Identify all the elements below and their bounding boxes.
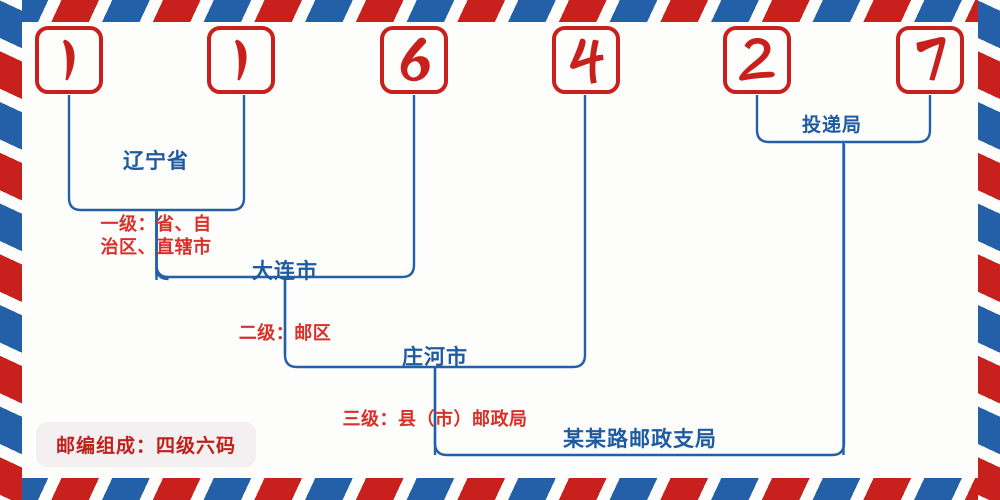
digit-box-5[interactable] xyxy=(723,26,791,94)
airmail-border-left xyxy=(0,0,22,500)
brush-one-icon xyxy=(39,30,99,90)
level-4-title: 某某路邮政支局 xyxy=(500,427,780,451)
postcode-diagram-stage: 辽宁省 一级：省、自 治区、直辖市 大连市 二级：邮区 庄河市 三级：县（市）邮… xyxy=(0,0,1000,500)
digit-box-2[interactable] xyxy=(207,26,275,94)
level-1-title: 辽宁省 xyxy=(56,149,256,173)
brush-one-icon xyxy=(211,30,271,90)
brush-six-icon xyxy=(384,30,444,90)
brush-seven-icon xyxy=(900,30,960,90)
legend-badge: 邮编组成：四级六码 xyxy=(36,422,256,467)
digit-box-1[interactable] xyxy=(35,26,103,94)
brush-four-icon xyxy=(556,30,616,90)
digit-box-3[interactable] xyxy=(380,26,448,94)
level-3-title: 庄河市 xyxy=(295,345,575,369)
digit-box-4[interactable] xyxy=(552,26,620,94)
level-2-title: 大连市 xyxy=(185,259,385,283)
brush-two-icon xyxy=(727,30,787,90)
airmail-border-bottom xyxy=(0,478,1000,500)
airmail-border-right xyxy=(978,0,1000,500)
delivery-group-label: 投递局 xyxy=(802,110,862,137)
airmail-border-top xyxy=(0,0,1000,22)
digit-box-6[interactable] xyxy=(896,26,964,94)
